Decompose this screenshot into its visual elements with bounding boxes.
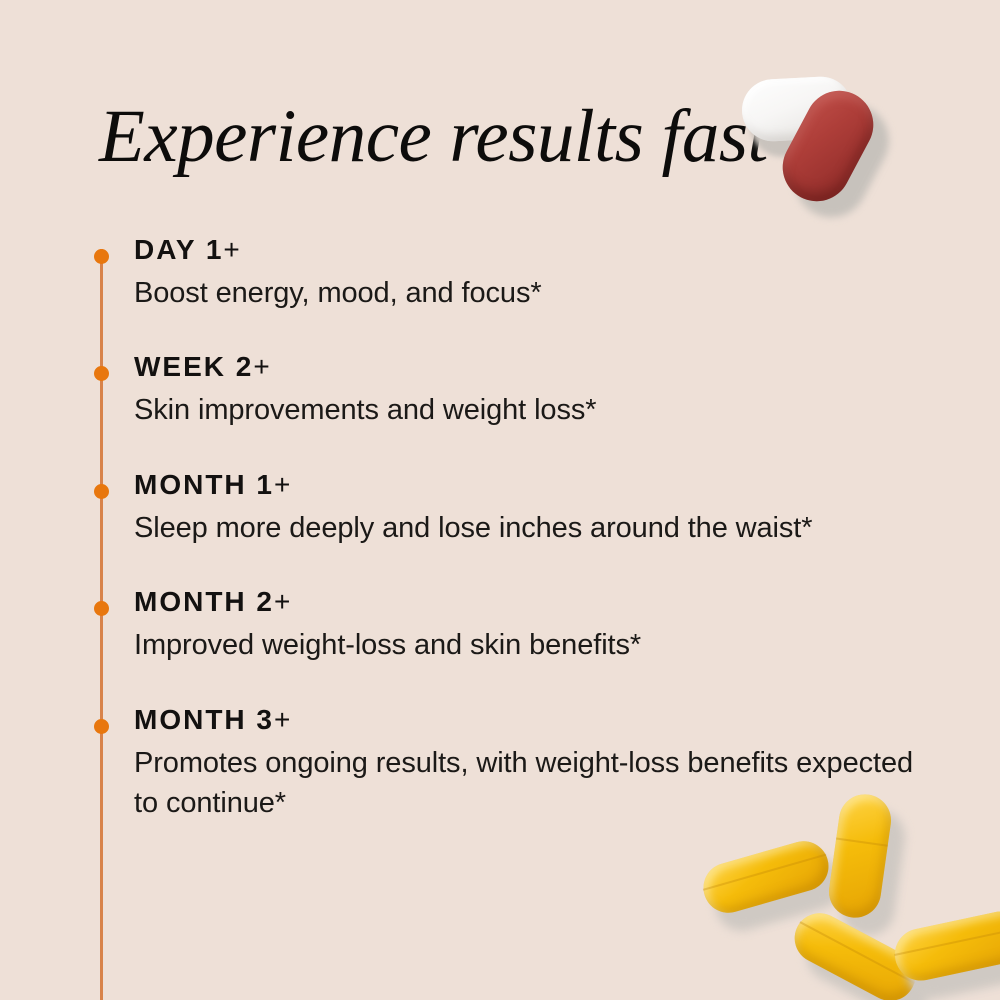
timeline-item-body: DAY 1+ Boost energy, mood, and focus* bbox=[134, 233, 964, 313]
timeline-dot-icon bbox=[94, 601, 109, 616]
timeline-item-period: MONTH 1 bbox=[134, 469, 274, 500]
timeline-dot-icon bbox=[94, 249, 109, 264]
timeline-item-period: DAY 1 bbox=[134, 234, 223, 265]
timeline-item-plus: + bbox=[223, 234, 239, 265]
timeline-item-label: MONTH 1+ bbox=[134, 468, 964, 502]
timeline-item-description: Skin improvements and weight loss* bbox=[134, 390, 934, 430]
promo-graphic: Experience results fast DAY 1+ Boost ene… bbox=[0, 0, 1000, 1000]
timeline-item-plus: + bbox=[274, 469, 290, 500]
tablets-photo-top-right bbox=[700, 50, 1000, 240]
timeline-dot-icon bbox=[94, 719, 109, 734]
timeline-item-description: Improved weight-loss and skin benefits* bbox=[134, 625, 934, 665]
timeline-item-description: Boost energy, mood, and focus* bbox=[134, 273, 934, 313]
timeline-item-body: MONTH 1+ Sleep more deeply and lose inch… bbox=[134, 468, 964, 548]
timeline-connector-line bbox=[100, 249, 103, 1000]
timeline-item-label: WEEK 2+ bbox=[134, 350, 964, 384]
timeline-item-plus: + bbox=[253, 351, 269, 382]
timeline-dot-icon bbox=[94, 484, 109, 499]
timeline-item-plus: + bbox=[274, 586, 290, 617]
timeline-item-period: WEEK 2 bbox=[134, 351, 253, 382]
capsules-photo-bottom-right bbox=[690, 780, 1000, 1000]
timeline-dot-icon bbox=[94, 366, 109, 381]
timeline-item-body: WEEK 2+ Skin improvements and weight los… bbox=[134, 350, 964, 430]
timeline-item-label: MONTH 2+ bbox=[134, 585, 964, 619]
timeline-item-description: Sleep more deeply and lose inches around… bbox=[134, 508, 934, 548]
timeline-item-period: MONTH 2 bbox=[134, 586, 274, 617]
timeline-item-period: MONTH 3 bbox=[134, 704, 274, 735]
timeline-item-label: MONTH 3+ bbox=[134, 703, 964, 737]
timeline-item-plus: + bbox=[274, 704, 290, 735]
timeline-item-body: MONTH 2+ Improved weight-loss and skin b… bbox=[134, 585, 964, 665]
